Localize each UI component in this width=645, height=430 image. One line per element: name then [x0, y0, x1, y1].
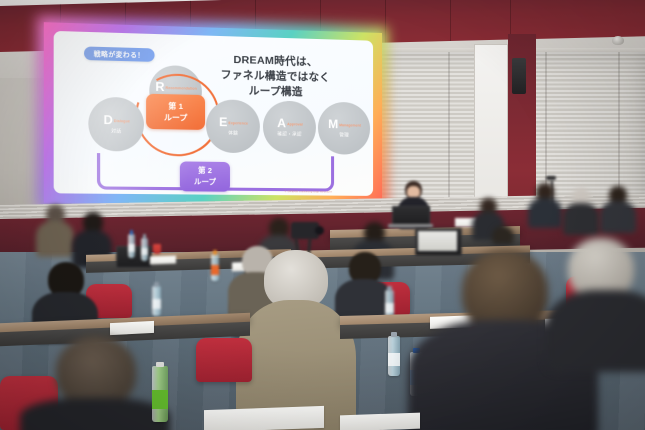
node-d-letter: DDialogue: [104, 114, 129, 127]
node-e: EExperience 体験: [206, 99, 260, 153]
microphone-head-icon: [546, 176, 556, 180]
water-bottle: [152, 286, 161, 316]
handout-paper: [150, 256, 176, 265]
node-a: AApproval 確認・承認: [263, 100, 316, 154]
loop2-line-2: ループ: [194, 176, 216, 187]
water-bottle-green: [152, 366, 168, 422]
handout-paper: [340, 413, 420, 430]
loop1-line-1: 第 1: [168, 100, 183, 112]
loop1-box: 第 1 ループ: [146, 94, 205, 130]
water-bottle: [211, 254, 219, 281]
node-m: MManagement 管理: [318, 102, 370, 155]
attendee-back-3: [600, 186, 636, 232]
node-m-letter: MManagement: [328, 118, 360, 131]
node-a-jp: 確認・承認: [277, 131, 301, 137]
slide-title: DREAM時代は、 ファネル構造ではなく ループ構造: [190, 52, 359, 103]
dome-camera-icon: [612, 36, 624, 45]
water-bottle: [388, 336, 400, 376]
node-d-roman: Dialogue: [114, 119, 130, 123]
attendee-laptop-display-1: [418, 231, 457, 251]
water-bottle: [141, 238, 148, 261]
node-e-roman: Experience: [228, 121, 248, 125]
camera-lens-icon: [315, 226, 324, 235]
node-m-jp: 管理: [339, 132, 349, 138]
node-e-letter: EExperience: [219, 116, 247, 129]
conference-room-photo: 戦略が変わる！ DREAM時代は、 ファネル構造ではなく ループ構造 RReco…: [0, 0, 645, 430]
handout-paper: [204, 406, 324, 430]
attendee-left-back-1: [36, 205, 74, 257]
attendee-foreground-left: [20, 336, 170, 430]
attendee-back-1: [528, 183, 562, 227]
slide-footer-text: © DREAM marketing loop structure: [157, 189, 332, 194]
node-m-roman: Management: [339, 123, 361, 127]
attendee-foreground-far-right: [546, 238, 645, 368]
ceiling-speaker-icon: [512, 58, 526, 94]
loop1-line-2: ループ: [164, 112, 187, 124]
projection-screen: 戦略が変わる！ DREAM時代は、 ファネル構造ではなく ループ構造 RReco…: [44, 22, 382, 205]
node-d: DDialogue 対話: [88, 97, 144, 152]
loop2-line-1: 第 2: [198, 166, 212, 177]
loop2-box: 第 2 ループ: [180, 161, 230, 191]
cup: [153, 244, 161, 254]
chair: [196, 338, 252, 382]
attendee-foreground-grey-suit: [236, 250, 356, 430]
water-bottle: [128, 234, 135, 258]
slide-content: 戦略が変わる！ DREAM時代は、 ファネル構造ではなく ループ構造 RReco…: [54, 31, 373, 196]
attendee-back-2: [563, 188, 599, 234]
node-a-letter: AApproval: [277, 117, 302, 130]
slide-badge: 戦略が変わる！: [84, 46, 154, 61]
node-d-jp: 対話: [111, 128, 121, 134]
node-a-roman: Approval: [287, 122, 303, 126]
handout-paper: [110, 321, 154, 335]
node-e-jp: 体験: [228, 130, 238, 136]
